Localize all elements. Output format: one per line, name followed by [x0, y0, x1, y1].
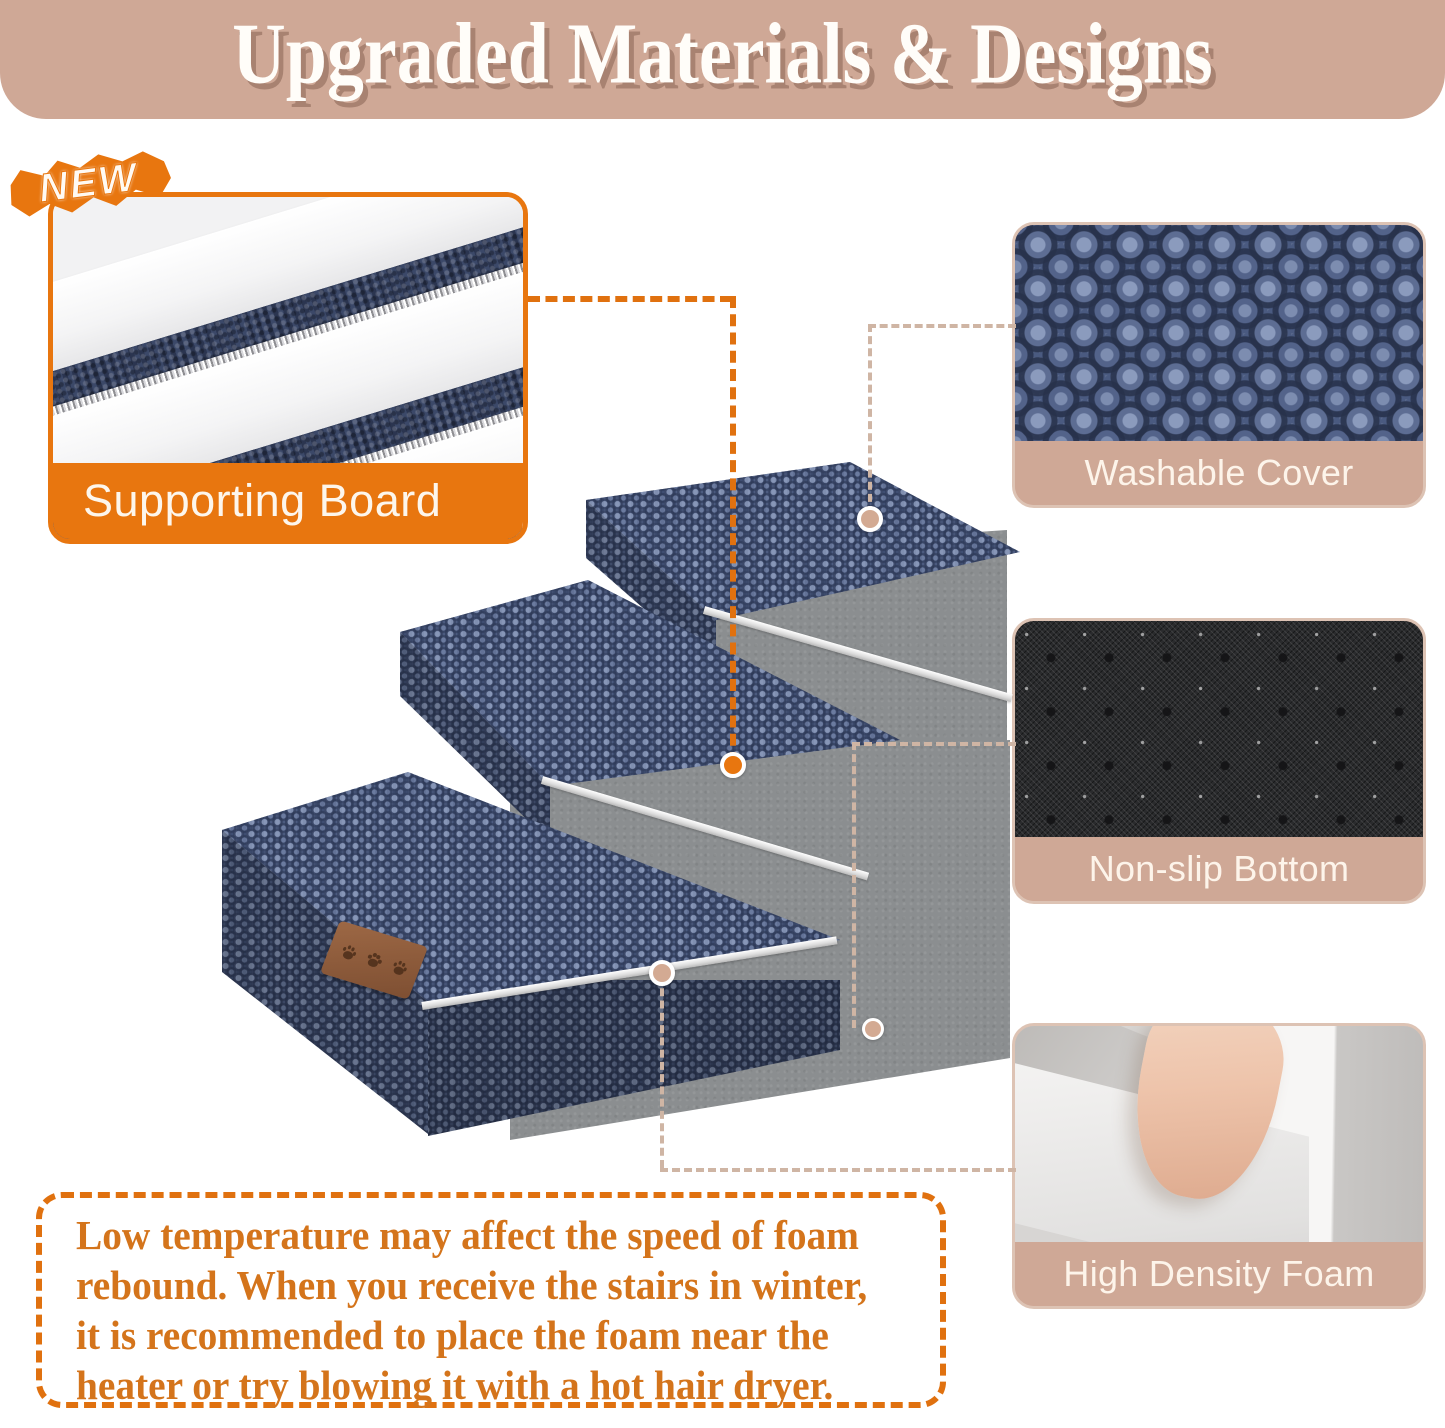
connector-segment [868, 324, 1016, 328]
paw-print-icon [339, 944, 357, 961]
feature-card-nonslip-bottom: Non-slip Bottom [1012, 618, 1426, 904]
washable-cover-label-text: Washable Cover [1085, 452, 1354, 494]
nonslip-bottom-label: Non-slip Bottom [1015, 837, 1423, 901]
connector-segment [528, 296, 732, 302]
high-density-foam-label: High Density Foam [1015, 1242, 1423, 1306]
high-density-foam-photo [1015, 1026, 1423, 1248]
nonslip-bottom-label-text: Non-slip Bottom [1089, 848, 1350, 890]
paw-print-icon [390, 959, 408, 976]
care-note-box: Low temperature may affect the speed of … [36, 1192, 946, 1408]
page-title: Upgraded Materials & Designs [232, 5, 1212, 119]
feature-card-high-density-foam: High Density Foam [1012, 1023, 1426, 1309]
paw-print-icon [365, 951, 383, 968]
product-pet-stairs [180, 420, 1040, 1180]
care-note-text: Low temperature may affect the speed of … [76, 1210, 877, 1410]
nonslip-mesh-texture [1015, 621, 1423, 843]
washable-cover-photo [1015, 225, 1423, 447]
washable-cover-label: Washable Cover [1015, 441, 1423, 505]
page-header-banner: Upgraded Materials & Designs [0, 0, 1445, 119]
infographic-page: Upgraded Materials & Designs Supporting … [0, 0, 1445, 1428]
high-density-foam-label-text: High Density Foam [1063, 1253, 1374, 1295]
pom-pom-fabric-texture [1015, 225, 1423, 447]
nonslip-bottom-photo [1015, 621, 1423, 843]
feature-card-washable-cover: Washable Cover [1012, 222, 1426, 508]
foam-texture [1015, 1026, 1423, 1248]
